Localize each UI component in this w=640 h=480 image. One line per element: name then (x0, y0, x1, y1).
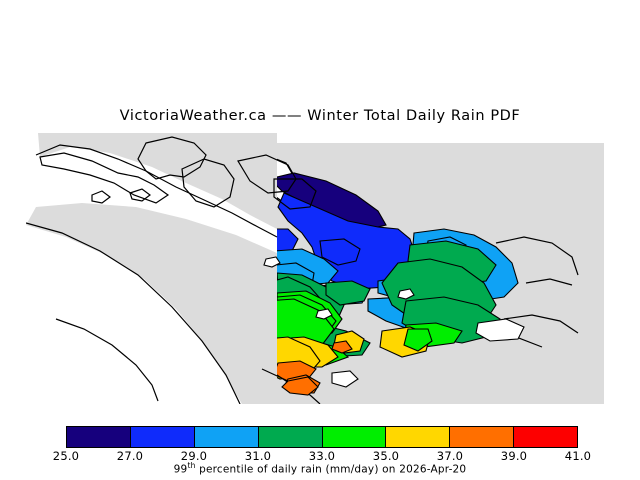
colorbar-segment-29-31 (194, 427, 258, 447)
colorbar-caption: 99th percentile of daily rain (mm/day) o… (0, 461, 640, 476)
colorbar-segment-31-33 (258, 427, 322, 447)
figure-canvas: VictoriaWeather.ca —— Winter Total Daily… (0, 0, 640, 480)
chart-title: VictoriaWeather.ca —— Winter Total Daily… (0, 108, 640, 124)
colorbar-segment-35-37 (385, 427, 449, 447)
colorbar-segment-27-29 (130, 427, 194, 447)
colorbar-segment-25-27 (67, 427, 130, 447)
colorbar-segment-33-35 (322, 427, 386, 447)
map-contour-svg (26, 133, 604, 404)
caption-rest: percentile of daily rain (mm/day) on 202… (196, 464, 467, 476)
colorbar-segment-39-41 (513, 427, 577, 447)
map-panel (26, 133, 604, 404)
colorbar-segment-37-39 (449, 427, 513, 447)
colorbar[interactable] (66, 426, 578, 448)
caption-superscript: th (187, 461, 195, 470)
caption-prefix: 99 (174, 464, 188, 476)
